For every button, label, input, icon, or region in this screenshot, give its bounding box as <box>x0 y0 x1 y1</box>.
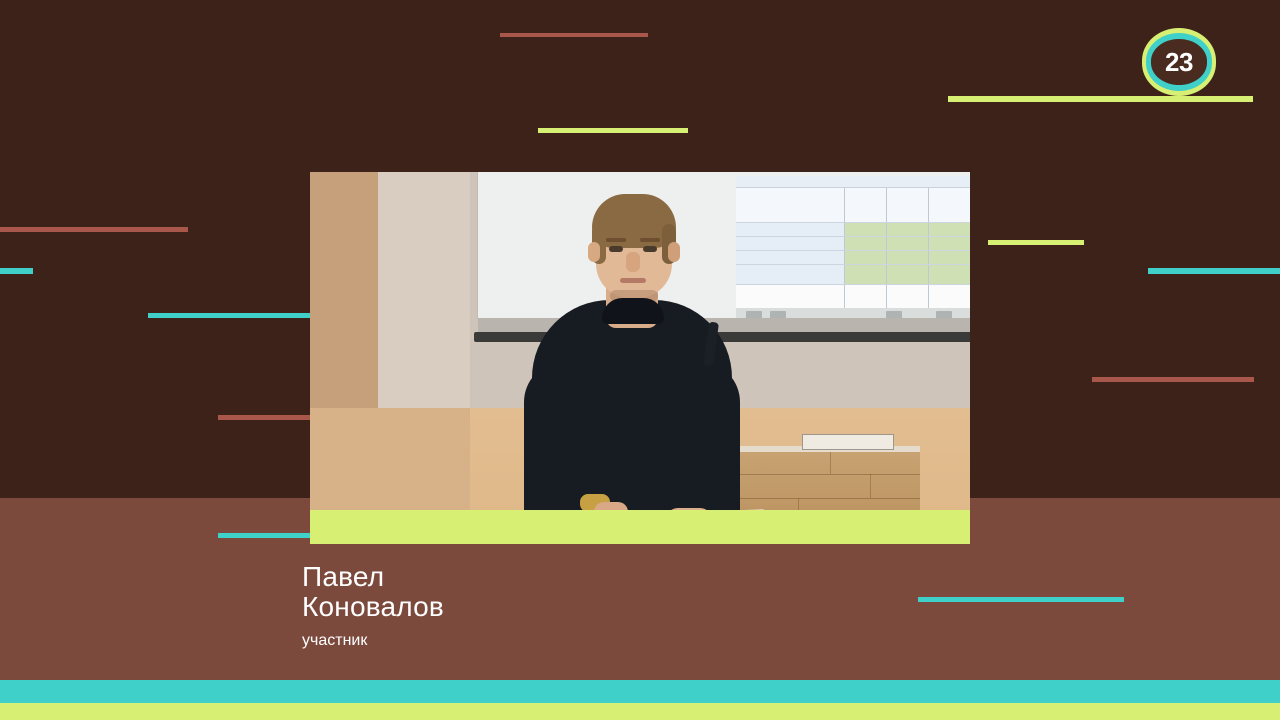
line-teal-right-upper <box>1148 268 1280 274</box>
spreadsheet-gridline <box>886 188 887 308</box>
podium-seam <box>870 474 871 498</box>
spreadsheet-highlight-cells <box>844 222 970 284</box>
logo-number: 23 <box>1151 39 1207 85</box>
person-eyebrow-right <box>640 238 660 242</box>
spreadsheet-gridline <box>928 188 929 308</box>
spreadsheet-footer-cells <box>736 284 970 308</box>
lower-third-name-line-1: Павел <box>302 562 822 592</box>
presentation-photo <box>310 172 970 544</box>
line-teal-left-bottom <box>218 533 310 538</box>
line-teal-right-lower <box>918 597 1124 602</box>
person-ear-left <box>588 242 600 262</box>
spreadsheet-title-band <box>736 188 970 222</box>
lower-third-name: Павел Коновалов <box>302 562 822 622</box>
person-nose <box>626 252 640 272</box>
channel-logo: 23 <box>1142 28 1216 96</box>
line-lime-logo-underline <box>948 96 1253 102</box>
spreadsheet-gridline <box>736 264 970 265</box>
person-eye-right <box>643 246 657 252</box>
video-frame <box>310 172 970 544</box>
line-teal-left-small <box>0 268 33 274</box>
person-eye-left <box>609 246 623 252</box>
broadcast-frame: Павел Коновалов участник 23 <box>0 0 1280 720</box>
spreadsheet-gridline <box>736 284 970 285</box>
line-lime-right-upper <box>988 240 1084 245</box>
lower-third-role: участник <box>302 632 367 650</box>
podium-document <box>802 434 894 450</box>
person-ear-right <box>668 242 680 262</box>
line-teal-left-mid <box>148 313 310 318</box>
line-brick-top-center <box>500 33 648 37</box>
spreadsheet-gridline <box>736 222 970 223</box>
spreadsheet-gridline <box>844 188 845 308</box>
podium-seam <box>830 452 831 474</box>
person-mouth <box>620 278 646 283</box>
line-lime-top-center <box>538 128 688 133</box>
spreadsheet-left-cells <box>736 222 844 284</box>
video-lime-underline <box>310 510 970 544</box>
person-collar <box>602 298 664 324</box>
line-brick-left-upper <box>0 227 188 232</box>
lower-third-name-line-2: Коновалов <box>302 592 822 622</box>
spreadsheet-gridline <box>736 250 970 251</box>
person-eyebrow-left <box>606 238 626 242</box>
projection-screen <box>478 172 970 318</box>
line-brick-right-mid <box>1092 377 1254 382</box>
footer-strip-lime <box>0 703 1280 720</box>
spreadsheet-header-row <box>736 176 970 188</box>
footer-strip-teal <box>0 680 1280 703</box>
spreadsheet-projection <box>736 176 970 308</box>
spreadsheet-gridline <box>736 236 970 237</box>
